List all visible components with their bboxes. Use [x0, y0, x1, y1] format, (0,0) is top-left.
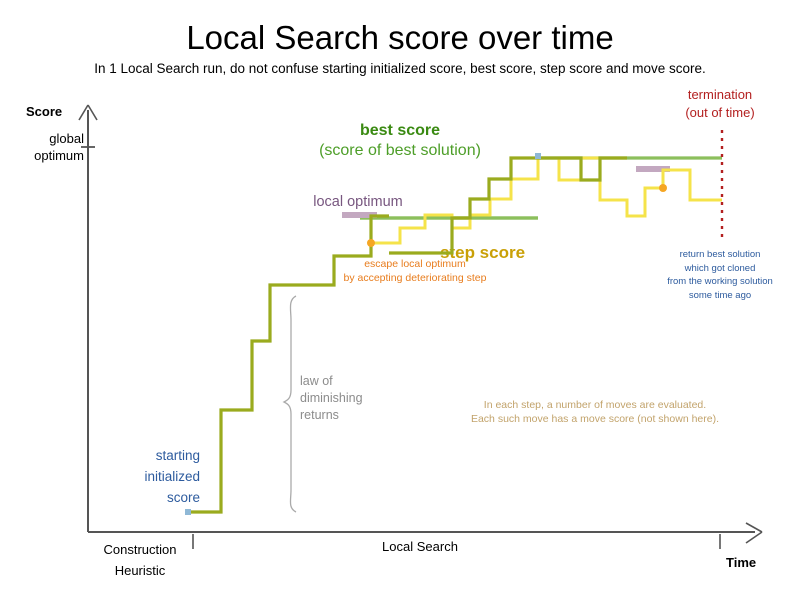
chart-canvas: [0, 0, 800, 600]
local-optimum-markers: [342, 169, 670, 215]
y-axis: [79, 105, 97, 532]
new-best-score-marker: [535, 153, 541, 159]
local-search-score-chart: Local Search score over time In 1 Local …: [0, 0, 800, 600]
working-solution-step-line: [188, 158, 627, 512]
x-axis: [88, 523, 762, 549]
chart-markers: [185, 153, 667, 515]
step-score-line: [371, 158, 722, 243]
deteriorating-step-marker: [659, 184, 667, 192]
escape-local-optimum-marker: [367, 239, 375, 247]
best-score-line: [0, 0, 722, 218]
starting-initialized-score-marker: [185, 509, 191, 515]
diminishing-returns-brace: [284, 296, 296, 512]
